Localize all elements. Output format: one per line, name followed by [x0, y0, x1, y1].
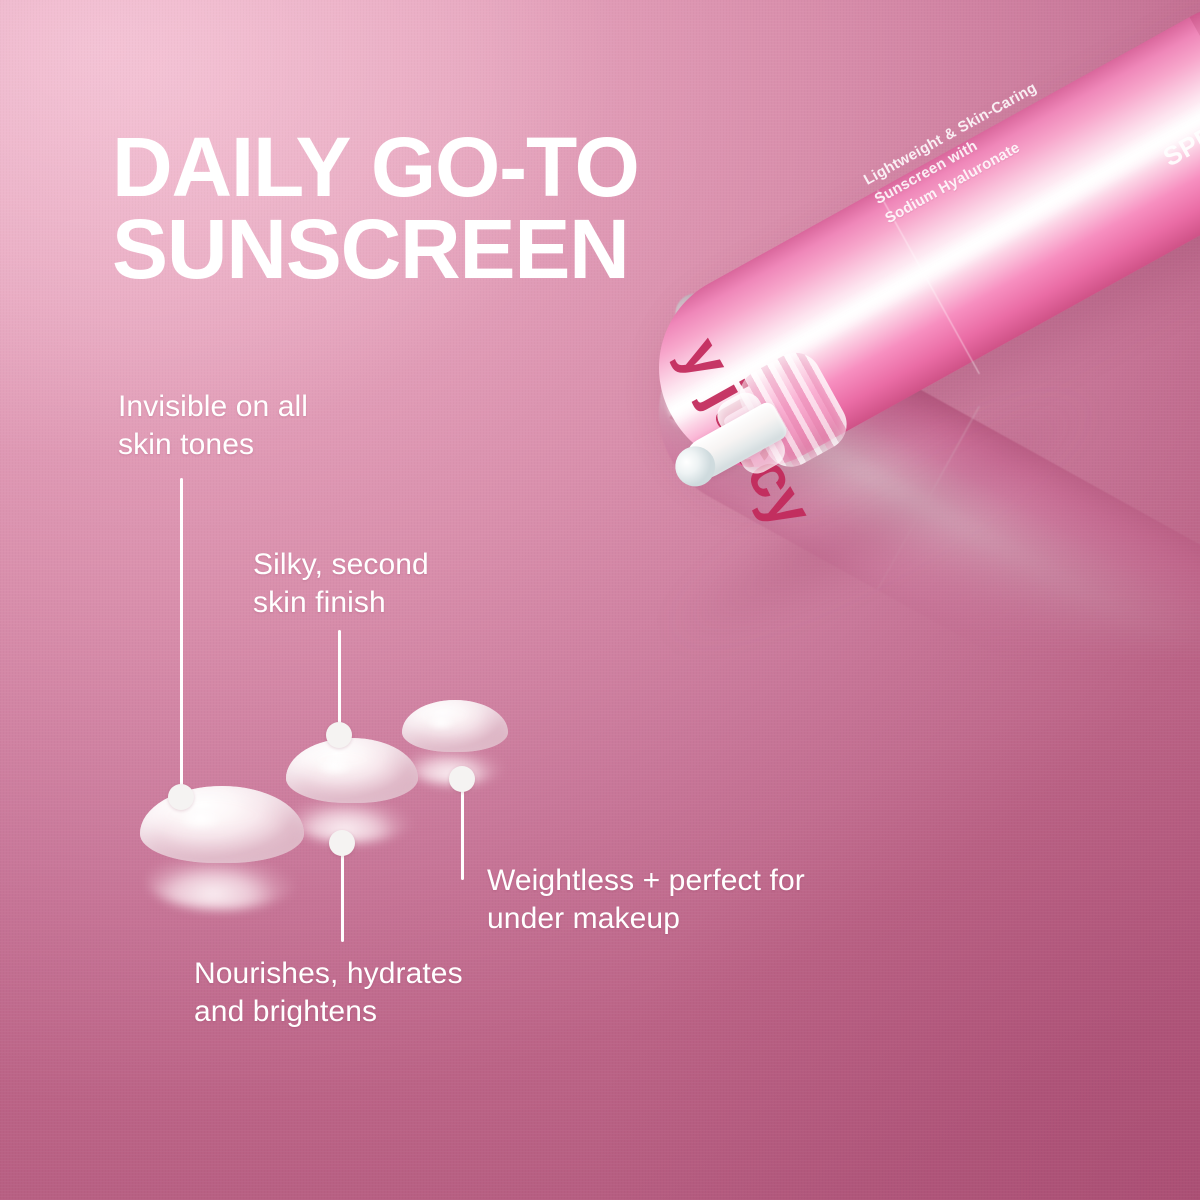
callout-nourishes-hydrates-and-brightens: Nourishes, hydrates and brightens	[194, 955, 463, 1031]
leader-dot-silky	[326, 722, 352, 748]
callout-invisible-on-all-skin-tones: Invisible on all skin tones	[118, 388, 308, 464]
product-marketing-image: y juccy Lightweight & Skin-Caring Sunscr…	[0, 0, 1200, 1200]
leader-line-weightless	[461, 780, 464, 880]
leader-dot-weightless	[449, 766, 475, 792]
callout-silky-second-skin-finish: Silky, second skin finish	[253, 546, 429, 622]
leader-line-invisible	[180, 478, 183, 796]
cream-dollop-large	[140, 786, 304, 918]
callout-weightless-perfect-under-makeup: Weightless + perfect for under makeup	[487, 862, 805, 938]
cream-dollop-medium	[286, 738, 418, 850]
page-title: DAILY GO-TO SUNSCREEN	[112, 126, 752, 291]
dollop-highlight	[308, 751, 361, 780]
leader-line-nourishes	[341, 842, 344, 942]
leader-dot-nourishes	[329, 830, 355, 856]
leader-dot-invisible	[168, 784, 194, 810]
leader-line-silky	[338, 630, 341, 734]
